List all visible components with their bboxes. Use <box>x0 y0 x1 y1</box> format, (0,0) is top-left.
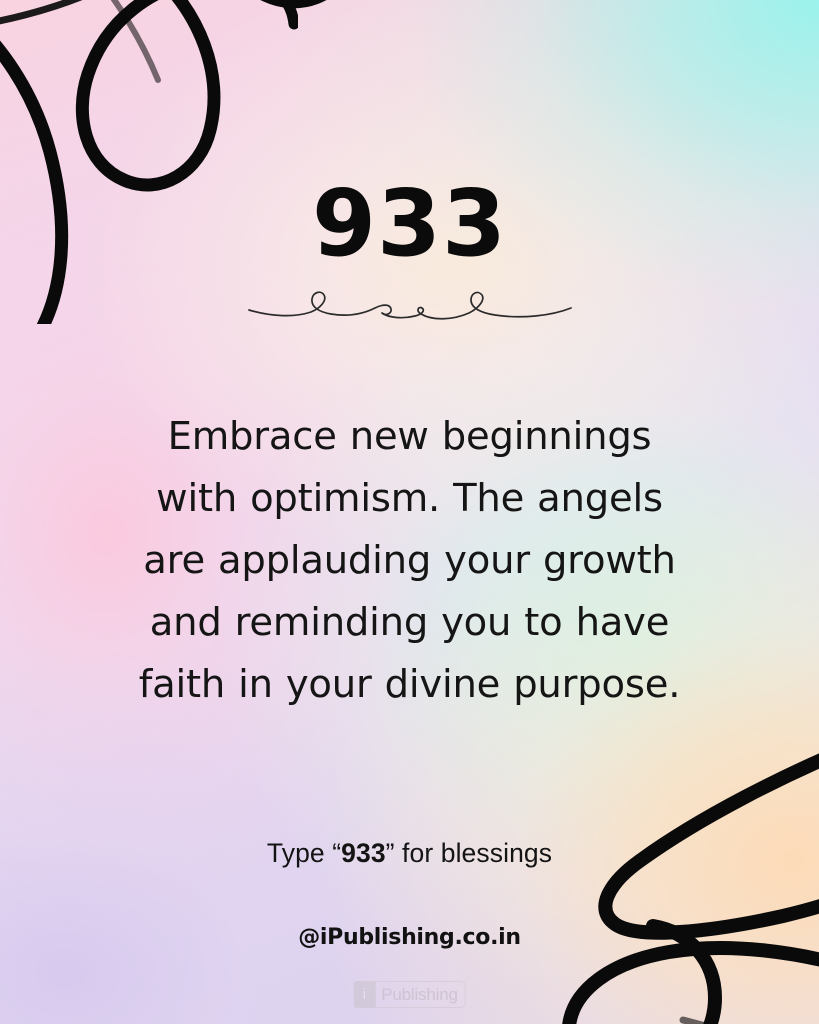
squiggle-flourish-divider-icon <box>245 286 575 328</box>
message-body: Embrace new beginnings with optimism. Th… <box>130 406 690 716</box>
watermark-mark-icon: i <box>353 981 375 1008</box>
brand-handle: @iPublishing.co.in <box>0 925 819 950</box>
cta-suffix: ” for blessings <box>386 838 552 868</box>
angel-number-poster: 933 Embrace new beginnings with optimism… <box>0 0 819 1024</box>
cta-number: 933 <box>341 838 386 868</box>
watermark-label: Publishing <box>375 981 465 1008</box>
watermark-logo: i Publishing <box>353 981 465 1008</box>
page-title: 933 <box>0 178 819 270</box>
cta-prefix: Type “ <box>267 838 341 868</box>
cta-text: Type “933” for blessings <box>0 838 819 869</box>
poster-content: 933 Embrace new beginnings with optimism… <box>0 0 819 1024</box>
